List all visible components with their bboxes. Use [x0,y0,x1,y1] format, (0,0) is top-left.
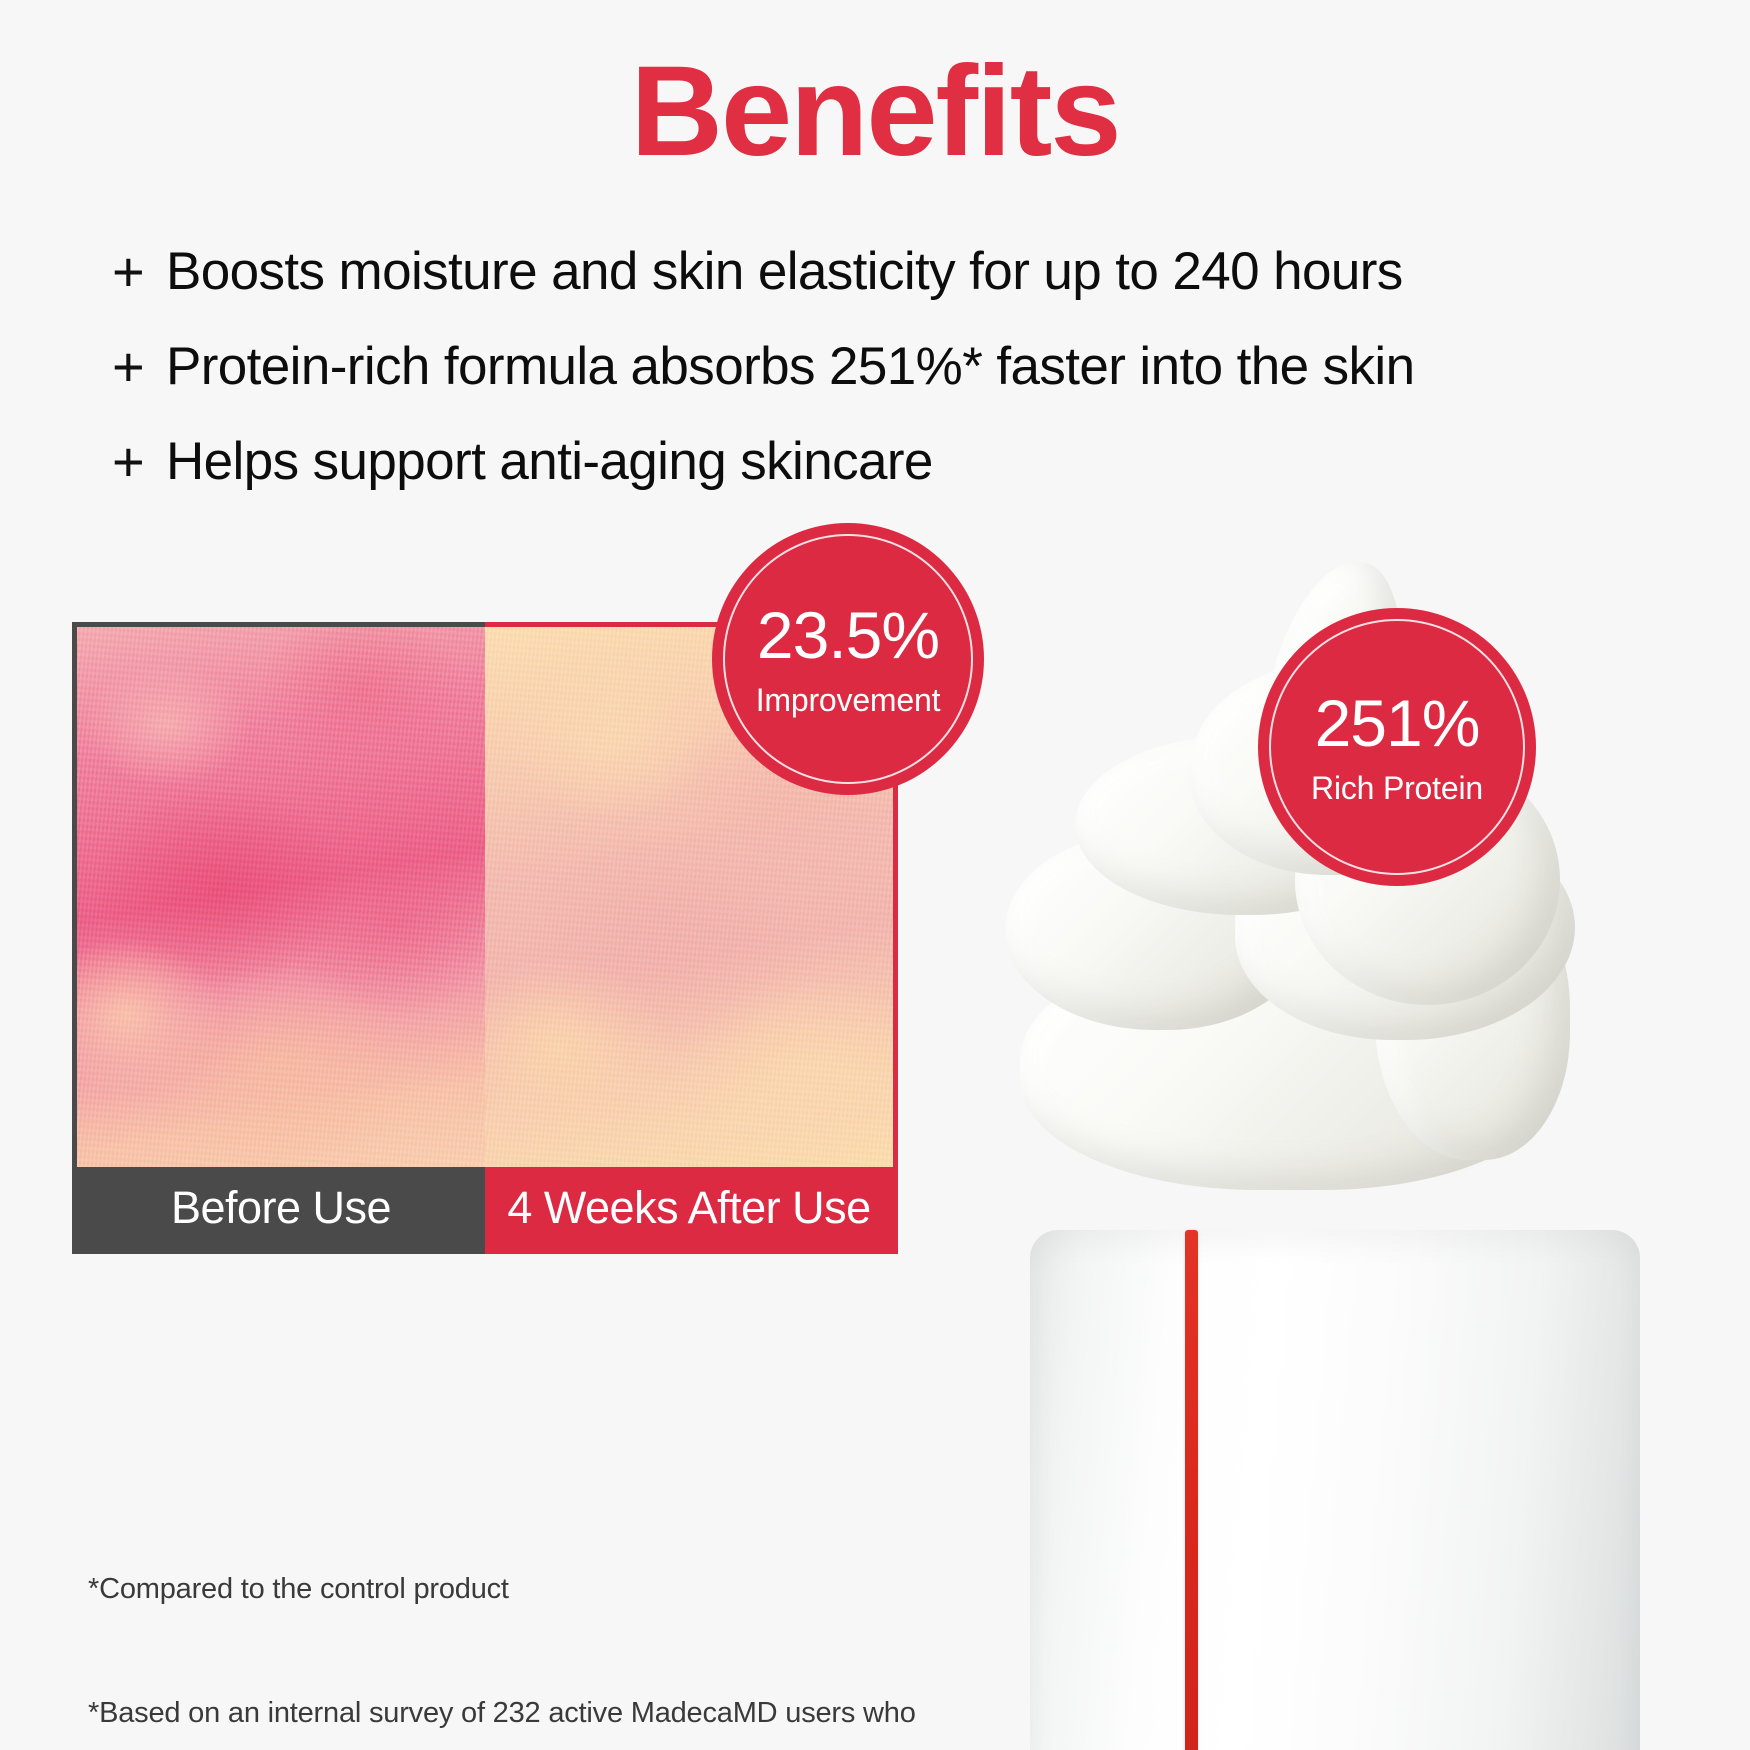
benefits-list: + Boosts moisture and skin elasticity fo… [112,242,1632,527]
page-title: Benefits [0,42,1750,183]
before-label: Before Use [77,1167,485,1249]
list-item: + Helps support anti-aging skincare [112,432,1632,493]
plus-icon: + [112,434,166,490]
benefit-text: Boosts moisture and skin elasticity for … [166,242,1403,303]
footnotes: *Compared to the control product *Based … [88,1487,988,1750]
benefit-text: Protein-rich formula absorbs 251%* faste… [166,337,1414,398]
plus-icon: + [112,339,166,395]
bottle-body [1030,1230,1640,1750]
improvement-badge: 23.5% Improvement [712,523,984,795]
footnote-line: *Based on an internal survey of 232 acti… [88,1693,988,1734]
before-panel: Before Use [72,622,485,1254]
badge-caption: Improvement [756,684,941,716]
bottle-red-stripe [1185,1230,1198,1750]
badge-value: 251% [1315,690,1480,756]
badge-value: 23.5% [757,602,939,668]
list-item: + Protein-rich formula absorbs 251%* fas… [112,337,1632,398]
footnote-line: *Compared to the control product [88,1569,988,1610]
plus-icon: + [112,244,166,300]
benefit-text: Helps support anti-aging skincare [166,432,933,493]
after-label: 4 Weeks After Use [485,1167,893,1249]
before-skin-image [77,627,485,1167]
list-item: + Boosts moisture and skin elasticity fo… [112,242,1632,303]
rich-protein-badge: 251% Rich Protein [1258,608,1536,886]
badge-caption: Rich Protein [1311,772,1483,804]
benefits-page: Benefits + Boosts moisture and skin elas… [0,0,1750,1750]
